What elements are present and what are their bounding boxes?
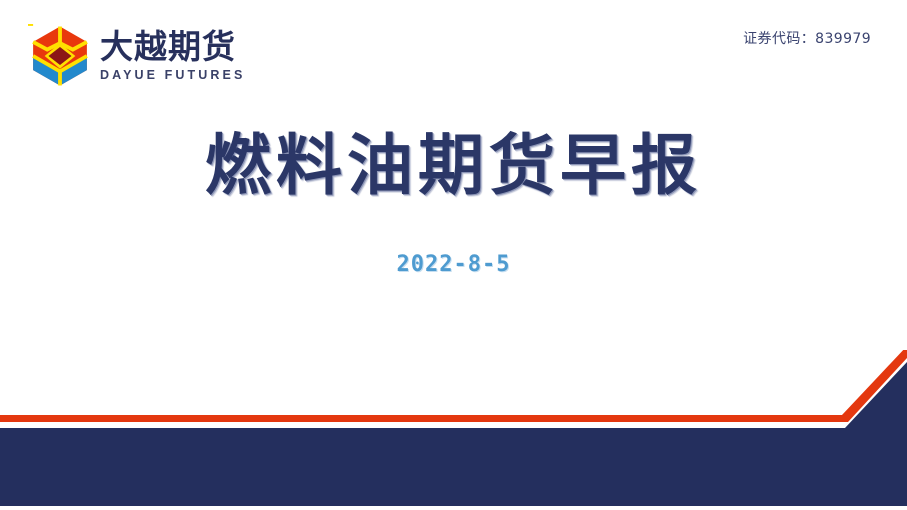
- page-header: 大越期货 DAYUE FUTURES 证券代码：839979: [0, 0, 907, 110]
- brand-name-cn: 大越期货: [100, 30, 245, 65]
- brand-text: 大越期货 DAYUE FUTURES: [100, 30, 245, 82]
- dayue-hexagon-logo-icon: [28, 24, 92, 88]
- footer-decoration: [0, 350, 907, 510]
- report-cover-page: 大越期货 DAYUE FUTURES 证券代码：839979 燃料油期货早报 2…: [0, 0, 907, 510]
- report-date: 2022-8-5: [0, 252, 907, 277]
- brand-lockup: 大越期货 DAYUE FUTURES: [28, 24, 245, 88]
- footer-navy-band: [0, 362, 907, 506]
- cover-title-block: 燃料油期货早报 2022-8-5: [0, 128, 907, 277]
- footer-orange-accent: [0, 350, 907, 422]
- security-code-label: 证券代码：839979: [743, 28, 871, 48]
- brand-name-en: DAYUE FUTURES: [100, 68, 245, 82]
- page-title: 燃料油期货早报: [0, 128, 907, 204]
- footer-bottom-rule: [0, 506, 907, 510]
